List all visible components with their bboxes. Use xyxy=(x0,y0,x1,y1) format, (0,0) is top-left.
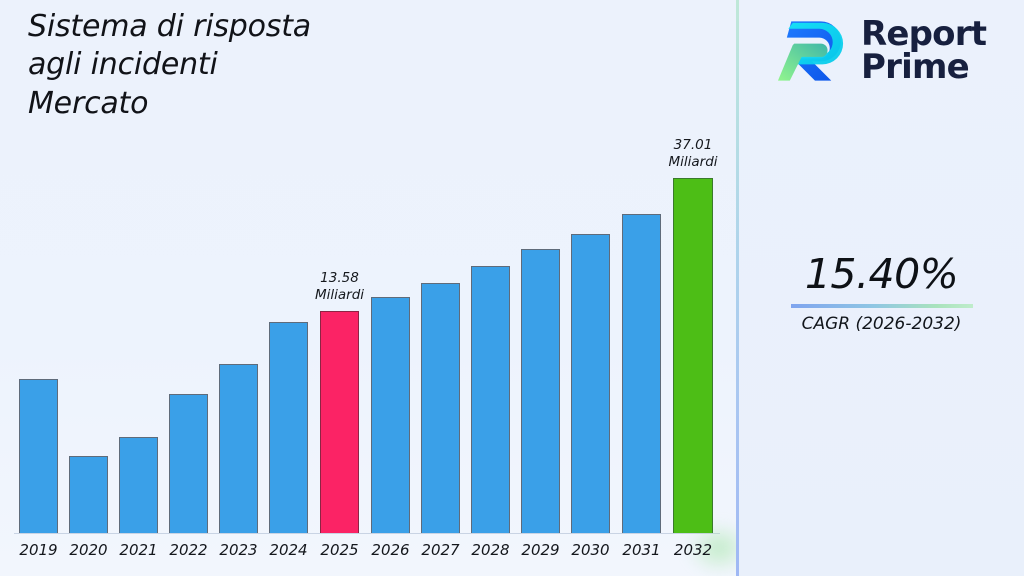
x-tick-label-2026: 2026 xyxy=(364,541,418,559)
bar-2026[interactable] xyxy=(371,297,410,533)
bar-2020[interactable] xyxy=(69,456,108,533)
x-tick-label-2023: 2023 xyxy=(212,541,266,559)
bar-2029[interactable] xyxy=(521,249,560,533)
bar-2028[interactable] xyxy=(471,266,510,533)
x-tick-label-2027: 2027 xyxy=(414,541,468,559)
cagr-label: CAGR (2026-2032) xyxy=(739,314,1024,334)
bar-2022[interactable] xyxy=(169,394,208,533)
x-tick-label-2020: 2020 xyxy=(62,541,116,559)
bar-2023[interactable] xyxy=(219,364,258,533)
side-panel: Report Prime 15.40% CAGR (2026-2032) xyxy=(739,0,1024,576)
cagr-divider-rule xyxy=(791,304,973,308)
bar-value-label-2032: 37.01 Miliardi xyxy=(643,137,737,172)
x-tick-label-2025: 2025 xyxy=(313,541,367,559)
bar-2027[interactable] xyxy=(421,283,460,533)
brand-name: Report Prime xyxy=(861,18,986,85)
bar-2025[interactable] xyxy=(320,311,359,533)
x-tick-label-2021: 2021 xyxy=(112,541,166,559)
brand-name-line2: Prime xyxy=(861,51,986,84)
report-prime-logo-icon xyxy=(775,14,849,88)
bar-2032[interactable] xyxy=(673,178,713,533)
x-tick-label-2028: 2028 xyxy=(464,541,518,559)
x-axis-line xyxy=(14,533,720,534)
chart-page: Sistema di risposta agli incidenti Merca… xyxy=(0,0,1024,576)
x-tick-label-2022: 2022 xyxy=(162,541,216,559)
x-tick-label-2024: 2024 xyxy=(262,541,316,559)
bar-2024[interactable] xyxy=(269,322,308,533)
bar-2031[interactable] xyxy=(622,214,661,533)
chart-panel: Sistema di risposta agli incidenti Merca… xyxy=(0,0,737,576)
x-tick-label-2032: 2032 xyxy=(666,541,720,559)
bar-2019[interactable] xyxy=(19,379,58,533)
cagr-value: 15.40% xyxy=(739,250,1024,298)
x-tick-label-2031: 2031 xyxy=(615,541,669,559)
bar-2021[interactable] xyxy=(119,437,158,533)
brand-logo: Report Prime xyxy=(775,14,986,88)
cagr-block: 15.40% CAGR (2026-2032) xyxy=(739,250,1024,334)
x-tick-label-2029: 2029 xyxy=(514,541,568,559)
x-tick-label-2030: 2030 xyxy=(564,541,618,559)
x-tick-label-2019: 2019 xyxy=(12,541,66,559)
brand-name-line1: Report xyxy=(861,18,986,51)
bar-value-label-2025: 13.58 Miliardi xyxy=(290,270,390,305)
bar-2030[interactable] xyxy=(571,234,610,533)
